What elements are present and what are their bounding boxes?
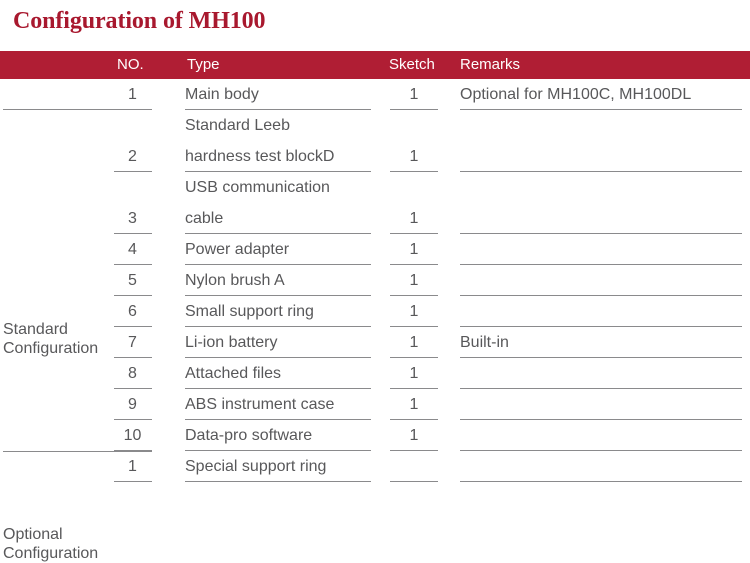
cell-remarks: Optional for MH100C, MH100DL — [460, 79, 742, 110]
cell-type: Power adapter — [185, 234, 375, 265]
cell-sketch: 1 — [390, 296, 438, 327]
table-row: 9ABS instrument case1 — [0, 389, 750, 420]
cell-type: Small support ring — [185, 296, 375, 327]
cell-type: Li-ion battery — [185, 327, 375, 358]
table-header-row: NO. Type Sketch Remarks — [0, 51, 750, 79]
cell-sketch: 1 — [390, 265, 438, 296]
table-row: 1Main body1Optional for MH100C, MH100DL — [0, 79, 750, 110]
cell-no: 8 — [113, 358, 152, 389]
cell-type: Attached files — [185, 358, 375, 389]
cell-sketch: 1 — [390, 327, 438, 358]
cell-sketch: 1 — [390, 389, 438, 420]
column-header-no: NO. — [117, 51, 144, 79]
cell-no: 4 — [113, 234, 152, 265]
cell-no: 9 — [113, 389, 152, 420]
table-row: 2Standard Leeb hardness test blockD1 — [0, 110, 750, 172]
cell-no: 5 — [113, 265, 152, 296]
cell-no: 3 — [113, 203, 152, 234]
row-rule-type — [185, 481, 371, 482]
column-header-type: Type — [187, 51, 220, 79]
cell-no: 6 — [113, 296, 152, 327]
row-rule-no — [114, 481, 152, 482]
row-rule-sketch — [390, 481, 438, 482]
cell-sketch: 1 — [390, 203, 438, 234]
cell-sketch: 1 — [390, 420, 438, 451]
table-row: 1Special support ring — [0, 451, 750, 482]
cell-type: Nylon brush A — [185, 265, 375, 296]
cell-sketch: 1 — [390, 234, 438, 265]
row-rule-remarks — [460, 481, 742, 482]
table-row: 3USB communication cable1 — [0, 172, 750, 234]
cell-sketch: 1 — [390, 358, 438, 389]
cell-type: Standard Leeb hardness test blockD — [185, 110, 375, 172]
column-header-sketch: Sketch — [389, 51, 435, 79]
column-header-remarks: Remarks — [460, 51, 520, 79]
cell-sketch: 1 — [390, 141, 438, 172]
cell-type: ABS instrument case — [185, 389, 375, 420]
group-label-optional-configuration: Optional Configuration — [3, 525, 115, 563]
cell-no: 10 — [113, 420, 152, 451]
cell-no: 7 — [113, 327, 152, 358]
cell-no: 2 — [113, 141, 152, 172]
table-body: Standard Configuration Optional Configur… — [0, 79, 750, 482]
configuration-table: NO. Type Sketch Remarks Standard Configu… — [0, 51, 750, 482]
cell-type: USB communication cable — [185, 172, 375, 234]
table-row: 4Power adapter1 — [0, 234, 750, 265]
cell-type: Special support ring — [185, 451, 375, 482]
cell-no: 1 — [113, 451, 152, 482]
table-row: 10Data-pro software1 — [0, 420, 750, 451]
cell-type: Data-pro software — [185, 420, 375, 451]
table-row: 7Li-ion battery1Built-in — [0, 327, 750, 358]
table-row: 8Attached files1 — [0, 358, 750, 389]
cell-type: Main body — [185, 79, 375, 110]
group-separator-rule — [3, 451, 152, 452]
cell-remarks: Built-in — [460, 327, 742, 358]
table-row: 5Nylon brush A1 — [0, 265, 750, 296]
cell-sketch: 1 — [390, 79, 438, 110]
cell-no: 1 — [113, 79, 152, 110]
page-title: Configuration of MH100 — [13, 5, 265, 37]
table-row: 6Small support ring1 — [0, 296, 750, 327]
